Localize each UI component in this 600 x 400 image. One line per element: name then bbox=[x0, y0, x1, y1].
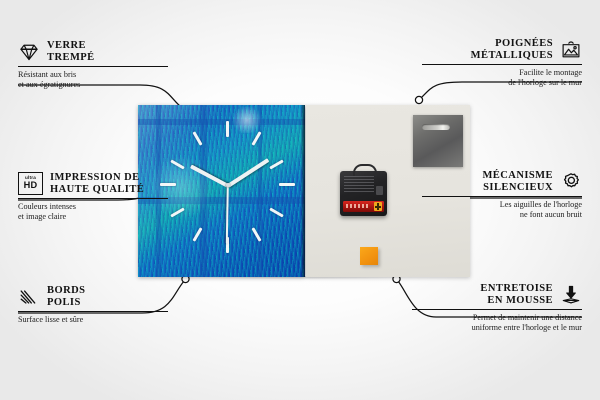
movement-hanging-loop bbox=[353, 164, 377, 176]
feature-title-line1: POIGNÉES bbox=[471, 38, 553, 50]
infographic-canvas: VERRE TREMPÉ Résistant aux bris et aux é… bbox=[0, 0, 600, 400]
feature-title-line1: MÉCANISME bbox=[482, 170, 553, 182]
feature-desc-line1: Surface lisse et sûre bbox=[18, 315, 178, 325]
movement-knob bbox=[376, 186, 383, 195]
feature-title-line1: IMPRESSION DE bbox=[50, 172, 144, 184]
metal-hanger-plate bbox=[413, 115, 463, 167]
feature-desc-line1: Permet de maintenir une distance bbox=[412, 313, 582, 323]
gear-icon bbox=[560, 171, 582, 193]
feature-divider bbox=[18, 311, 168, 312]
foam-spacer-arrow-icon bbox=[560, 284, 582, 306]
hanger-slot bbox=[422, 124, 450, 130]
feature-desc-line1: Facilite le montage bbox=[422, 68, 582, 78]
feature-desc-line2: de l'horloge sur le mur bbox=[422, 78, 582, 88]
feature-mecanisme-silencieux: MÉCANISME SILENCIEUX Les aiguilles de l'… bbox=[422, 170, 582, 219]
product-photo bbox=[138, 105, 470, 277]
feature-title-line2: HAUTE QUALITÉ bbox=[50, 184, 144, 196]
feature-verre-trempe: VERRE TREMPÉ Résistant aux bris et aux é… bbox=[18, 40, 178, 89]
picture-frame-hook-icon bbox=[560, 39, 582, 61]
movement-label bbox=[344, 176, 374, 192]
feature-desc-line2: et image claire bbox=[18, 212, 178, 222]
leader-dot-poignees bbox=[415, 96, 422, 103]
feature-entretoise-en-mousse: ENTRETOISE EN MOUSSE Permet de maintenir… bbox=[412, 283, 582, 332]
feature-title-line1: BORDS bbox=[47, 285, 85, 297]
clock-hand-second bbox=[226, 186, 229, 244]
feature-desc-line2: et aux égratignures bbox=[18, 80, 178, 90]
clock-tick bbox=[279, 183, 295, 186]
feature-poignees-metalliques: POIGNÉES MÉTALLIQUES Facilite le montage… bbox=[422, 38, 582, 87]
feature-title-line2: TREMPÉ bbox=[47, 52, 95, 64]
feature-divider bbox=[412, 309, 582, 310]
battery-positive-terminal bbox=[374, 202, 382, 211]
polished-edges-icon bbox=[18, 286, 40, 308]
feature-divider bbox=[18, 66, 168, 67]
foam-spacer bbox=[360, 247, 378, 265]
feature-desc-line1: Couleurs intenses bbox=[18, 202, 178, 212]
feature-title-line2: SILENCIEUX bbox=[482, 182, 553, 194]
clock-tick bbox=[269, 207, 283, 217]
clock-movement-box bbox=[340, 171, 387, 216]
feature-impression-haute-qualite: ultra HD IMPRESSION DE HAUTE QUALITÉ Cou… bbox=[18, 172, 178, 221]
clock-hand-minute bbox=[227, 158, 269, 187]
feature-desc-line2: uniforme entre l'horloge et le mur bbox=[412, 323, 582, 333]
feature-desc-line2: ne font aucun bruit bbox=[422, 210, 582, 220]
feature-title-line2: POLIS bbox=[47, 297, 85, 309]
feature-desc-line1: Les aiguilles de l'horloge bbox=[422, 200, 582, 210]
feature-divider bbox=[18, 198, 168, 199]
feature-title-line1: VERRE bbox=[47, 40, 95, 52]
diamond-icon bbox=[18, 41, 40, 63]
clock-hub bbox=[226, 183, 230, 187]
clock-tick bbox=[226, 121, 229, 137]
feature-divider bbox=[422, 196, 582, 197]
battery bbox=[343, 201, 384, 212]
feature-bords-polis: BORDS POLIS Surface lisse et sûre bbox=[18, 285, 178, 325]
feature-title-line2: MÉTALLIQUES bbox=[471, 50, 553, 62]
ultra-hd-icon: ultra HD bbox=[18, 172, 43, 195]
ultra-hd-icon-main: HD bbox=[24, 181, 38, 190]
feature-title-line1: ENTRETOISE bbox=[480, 283, 553, 295]
feature-title-line2: EN MOUSSE bbox=[480, 295, 553, 307]
feature-desc-line1: Résistant aux bris bbox=[18, 70, 178, 80]
feature-divider bbox=[422, 64, 582, 65]
clock-tick bbox=[269, 159, 283, 169]
